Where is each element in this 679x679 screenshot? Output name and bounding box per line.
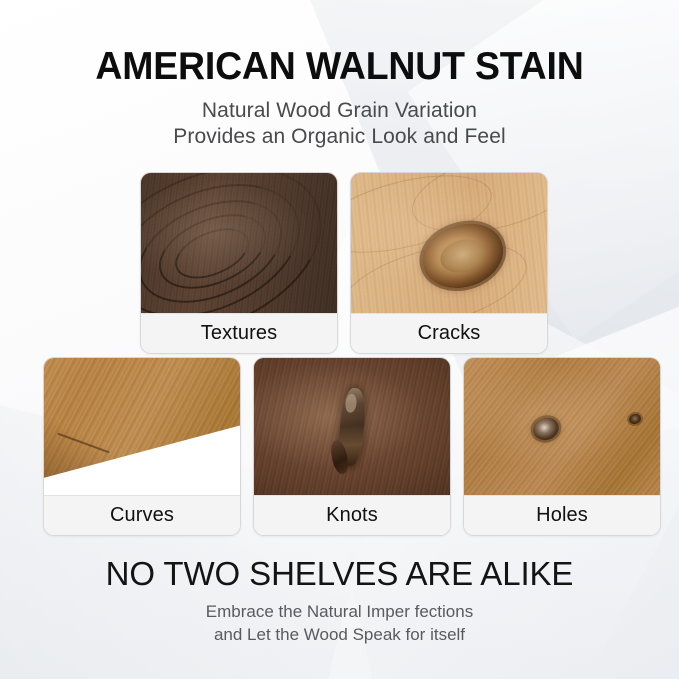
tile-thumb-textures (141, 173, 337, 313)
tile-label-knots: Knots (326, 504, 378, 527)
page-subtitle-line-2: Provides an Organic Look and Feel (0, 124, 679, 150)
tile-label-band-cracks: Cracks (351, 313, 547, 353)
footer-block: NO TWO SHELVES ARE ALIKE Embrace the Nat… (0, 557, 679, 647)
footer-subtitle-line-2: and Let the Wood Speak for itself (0, 624, 679, 647)
tile-card-cracks[interactable]: Cracks (350, 172, 548, 354)
tile-row-top: Textures Cracks (140, 172, 548, 354)
tile-label-band-curves: Curves (44, 495, 240, 535)
tile-card-holes[interactable]: Holes (463, 357, 661, 536)
page-subtitle-line-1: Natural Wood Grain Variation (0, 98, 679, 124)
surface-sheen (464, 358, 660, 495)
tile-thumb-curves (44, 358, 240, 495)
tile-thumb-cracks (351, 173, 547, 313)
tile-label-band-knots: Knots (254, 495, 450, 535)
wood-texture-red-brown (254, 358, 450, 495)
tile-row-bottom: Curves Knots (43, 357, 661, 536)
wood-texture-medium-brown (464, 358, 660, 495)
tile-label-band-textures: Textures (141, 313, 337, 353)
infographic-page: AMERICAN WALNUT STAIN Natural Wood Grain… (0, 0, 679, 679)
tile-card-curves[interactable]: Curves (43, 357, 241, 536)
wood-texture-dark-walnut (141, 173, 337, 313)
footer-subtitle-line-1: Embrace the Natural Imper fections (0, 601, 679, 624)
surface-sheen (141, 173, 337, 313)
tile-label-curves: Curves (110, 504, 174, 527)
tile-thumb-knots (254, 358, 450, 495)
tile-label-holes: Holes (536, 504, 588, 527)
wood-texture-light-oak (351, 173, 547, 313)
footer-subtitle: Embrace the Natural Imper fections and L… (0, 590, 679, 647)
footer-title: NO TWO SHELVES ARE ALIKE (0, 557, 679, 590)
tile-card-knots[interactable]: Knots (253, 357, 451, 536)
page-title: AMERICAN WALNUT STAIN (14, 0, 666, 86)
wood-texture-plank-edge (44, 358, 240, 495)
tile-label-textures: Textures (201, 322, 277, 345)
page-subtitle: Natural Wood Grain Variation Provides an… (0, 86, 679, 151)
surface-sheen (351, 173, 547, 313)
tile-label-cracks: Cracks (418, 322, 481, 345)
tile-thumb-holes (464, 358, 660, 495)
tile-label-band-holes: Holes (464, 495, 660, 535)
tile-card-textures[interactable]: Textures (140, 172, 338, 354)
surface-sheen (254, 358, 450, 495)
